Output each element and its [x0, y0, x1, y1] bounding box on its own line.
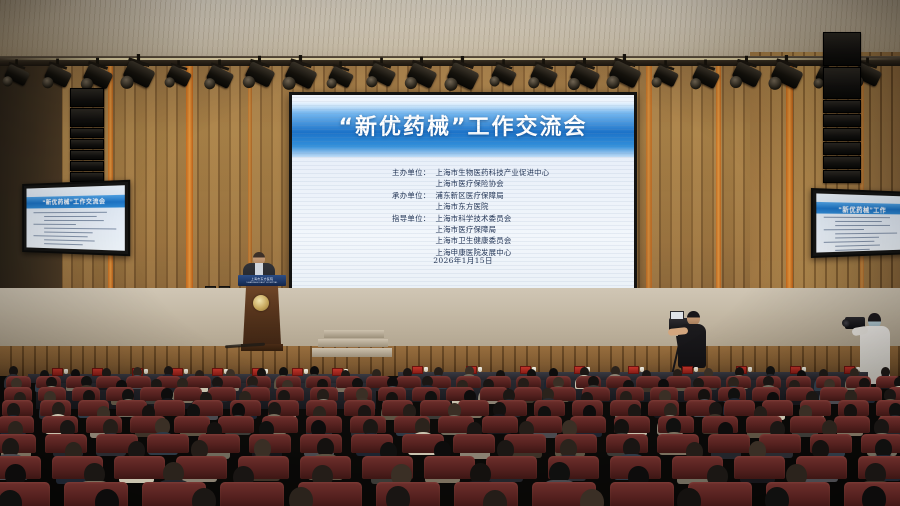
speaker-box — [70, 139, 104, 149]
slide-organizer-value: 上海市卫生健康委员会 — [431, 235, 548, 246]
slide-date: 2026年1月15日 — [292, 255, 634, 266]
speaker-box — [70, 128, 104, 138]
table-cup — [144, 369, 148, 374]
stage-light — [330, 65, 352, 96]
table-cup — [304, 369, 308, 374]
name-card — [628, 366, 639, 374]
stage-light — [370, 61, 394, 94]
slide-organizer-value: 上海市医疗保险协会 — [431, 178, 548, 189]
audience-seat — [114, 456, 165, 479]
audience-seat — [154, 400, 185, 415]
audience-seat — [176, 456, 227, 479]
stage-step — [312, 348, 392, 357]
podium-sign-line2: SHANGHAI EAST HOSPITAL — [238, 281, 286, 285]
side-monitor-left-screen: “新优药械”工作交流会 — [26, 185, 124, 251]
stage-step — [318, 339, 388, 347]
table-cup — [748, 367, 752, 372]
main-projection-screen: “新优药械”工作交流会 主办单位：上海市生物医药科技产业促进中心上海市医疗保险协… — [292, 95, 634, 298]
podium: 上海市东方医院 SHANGHAI EAST HOSPITAL — [241, 275, 283, 353]
table-cup — [424, 367, 428, 372]
side-monitor-right: “新优药械”工作 — [811, 188, 900, 258]
table-cup — [184, 369, 188, 374]
slide-organizer-row: 指导单位：上海市科学技术委员会 — [292, 213, 634, 224]
audience-head — [289, 487, 313, 506]
monitor-text-line — [34, 224, 76, 225]
monitor-text-line — [45, 220, 104, 221]
name-card — [682, 366, 693, 374]
stage-light — [45, 62, 69, 95]
speaker-box — [70, 161, 104, 171]
slide-organizer-list: 主办单位：上海市生物医药科技产业促进中心上海市医疗保险协会承办单位：浦东新区医疗… — [292, 167, 634, 258]
slide-organizer-value: 上海市医疗保障局 — [431, 224, 548, 235]
audience-seat — [424, 456, 475, 479]
slide-organizer-row: 上海市东方医院 — [292, 201, 634, 212]
speaker-box — [70, 88, 104, 107]
videographer-head — [687, 311, 700, 325]
stage-light — [773, 59, 801, 98]
audience-seat — [420, 400, 451, 415]
speaker-box — [823, 32, 861, 66]
monitor-text-line — [45, 227, 117, 229]
audience-head — [765, 487, 789, 506]
audience-seat — [174, 416, 210, 433]
side-monitor-left-lines — [34, 211, 119, 249]
audience-seat — [458, 400, 489, 415]
slide-organizer-row: 承办单位：浦东新区医疗保障局 — [292, 190, 634, 201]
audience-seat — [453, 434, 495, 454]
audience-head — [862, 486, 886, 506]
audience-seat — [482, 416, 518, 433]
slide-organizer-value: 上海市东方医院 — [431, 201, 548, 212]
stage-light — [694, 63, 718, 96]
audience-seat — [486, 456, 537, 479]
slide-organizer-row: 上海市医疗保险协会 — [292, 178, 634, 189]
monitor-text-line — [45, 216, 97, 217]
audience-seat — [854, 387, 882, 401]
slide-organizer-label — [379, 235, 431, 246]
stage-step — [324, 330, 384, 338]
monitor-text-line — [836, 245, 881, 247]
audience-head — [192, 488, 216, 506]
name-card — [212, 368, 223, 376]
table-cup — [694, 367, 698, 372]
camera-monitor-flap — [670, 311, 684, 320]
side-monitor-left: “新优药械”工作交流会 — [22, 180, 130, 257]
speaker-box — [823, 67, 861, 99]
slide-organizer-row: 主办单位：上海市生物医药科技产业促进中心 — [292, 167, 634, 178]
speaker-box — [70, 150, 104, 160]
audience-seat — [514, 387, 542, 401]
audience-seat — [820, 387, 848, 401]
slide-organizer-value: 上海市生物医药科技产业促进中心 — [431, 167, 548, 178]
audience-seat — [724, 400, 755, 415]
audience-seat — [218, 416, 254, 433]
photographer-camera-lens-icon — [842, 319, 850, 327]
monitor-text-line — [34, 235, 88, 237]
audience-head — [95, 489, 119, 506]
podium-sign: 上海市东方医院 SHANGHAI EAST HOSPITAL — [238, 275, 286, 286]
slide-title: “新优药械”工作交流会 — [292, 109, 634, 141]
stage-light — [124, 58, 152, 97]
monitor-text-line — [836, 225, 891, 226]
auditorium-photo: “新优药械”工作交流会 主办单位：上海市生物医药科技产业促进中心上海市医疗保险协… — [0, 0, 900, 506]
stage-light — [655, 64, 677, 95]
name-card — [172, 368, 183, 376]
monitor-text-line — [824, 229, 864, 230]
monitor-text-line — [45, 239, 95, 241]
speaker-box — [823, 128, 861, 141]
audience-head — [580, 489, 604, 506]
audience-seat — [147, 434, 189, 454]
audience-seat — [790, 416, 826, 433]
monitor-text-line — [836, 233, 898, 235]
side-monitor-right-lines — [824, 217, 900, 252]
slide-organizer-value: 上海市科学技术委员会 — [431, 213, 548, 224]
audience-seat — [610, 482, 674, 506]
table-cup — [478, 367, 482, 372]
stage-light — [6, 63, 28, 94]
stage-light — [168, 64, 190, 95]
slide-organizer-label — [379, 224, 431, 235]
slide-organizer-label — [379, 178, 431, 189]
monitor-text-line — [824, 241, 874, 243]
ceiling-shadow-left — [0, 0, 200, 62]
slide-organizer-label: 承办单位： — [379, 190, 431, 201]
speaker-box — [823, 114, 861, 127]
stage-light — [734, 60, 760, 96]
table-cup — [64, 369, 68, 374]
monitor-text-line — [836, 249, 870, 251]
side-monitor-right-screen: “新优药械”工作 — [816, 193, 900, 252]
monitor-text-line — [836, 237, 879, 239]
slide-organizer-value: 浦东新区医疗保障局 — [431, 190, 548, 201]
monitor-text-line — [34, 212, 108, 213]
audience-seat — [174, 387, 202, 401]
stage-light — [492, 63, 514, 94]
audience-seat — [208, 387, 236, 401]
podium-emblem — [253, 295, 269, 311]
stage-light — [532, 62, 556, 95]
audience-seat — [220, 482, 284, 506]
stage-light — [208, 63, 232, 96]
line-array-speaker-right — [823, 32, 861, 184]
name-card — [52, 368, 63, 376]
name-card — [292, 368, 303, 376]
slide-organizer-row: 上海市卫生健康委员会 — [292, 235, 634, 246]
speaker-box — [823, 142, 861, 155]
monitor-text-line — [45, 243, 83, 245]
audience-seat — [734, 456, 785, 479]
side-monitor-right-title: “新优药械”工作 — [816, 203, 900, 215]
audience-head — [386, 486, 410, 506]
slide-organizer-row: 上海市医疗保障局 — [292, 224, 634, 235]
monitor-text-line — [45, 231, 93, 233]
audience-seat — [834, 416, 870, 433]
speaker-box — [823, 100, 861, 113]
monitor-text-line — [824, 217, 890, 218]
slide-organizer-label: 主办单位： — [379, 167, 431, 178]
audience-seat — [708, 434, 750, 454]
slide-organizer-label: 指导单位： — [379, 213, 431, 224]
monitor-text-line — [836, 221, 882, 222]
audience-head — [677, 488, 701, 506]
side-monitor-left-title: “新优药械”工作交流会 — [26, 196, 124, 207]
slide-organizer-label — [379, 201, 431, 212]
speaker-box — [823, 156, 861, 169]
speaker-box — [823, 170, 861, 183]
stage-steps — [312, 330, 394, 374]
stage-light — [247, 60, 273, 96]
name-card — [412, 366, 423, 374]
speaker-box — [70, 108, 104, 127]
